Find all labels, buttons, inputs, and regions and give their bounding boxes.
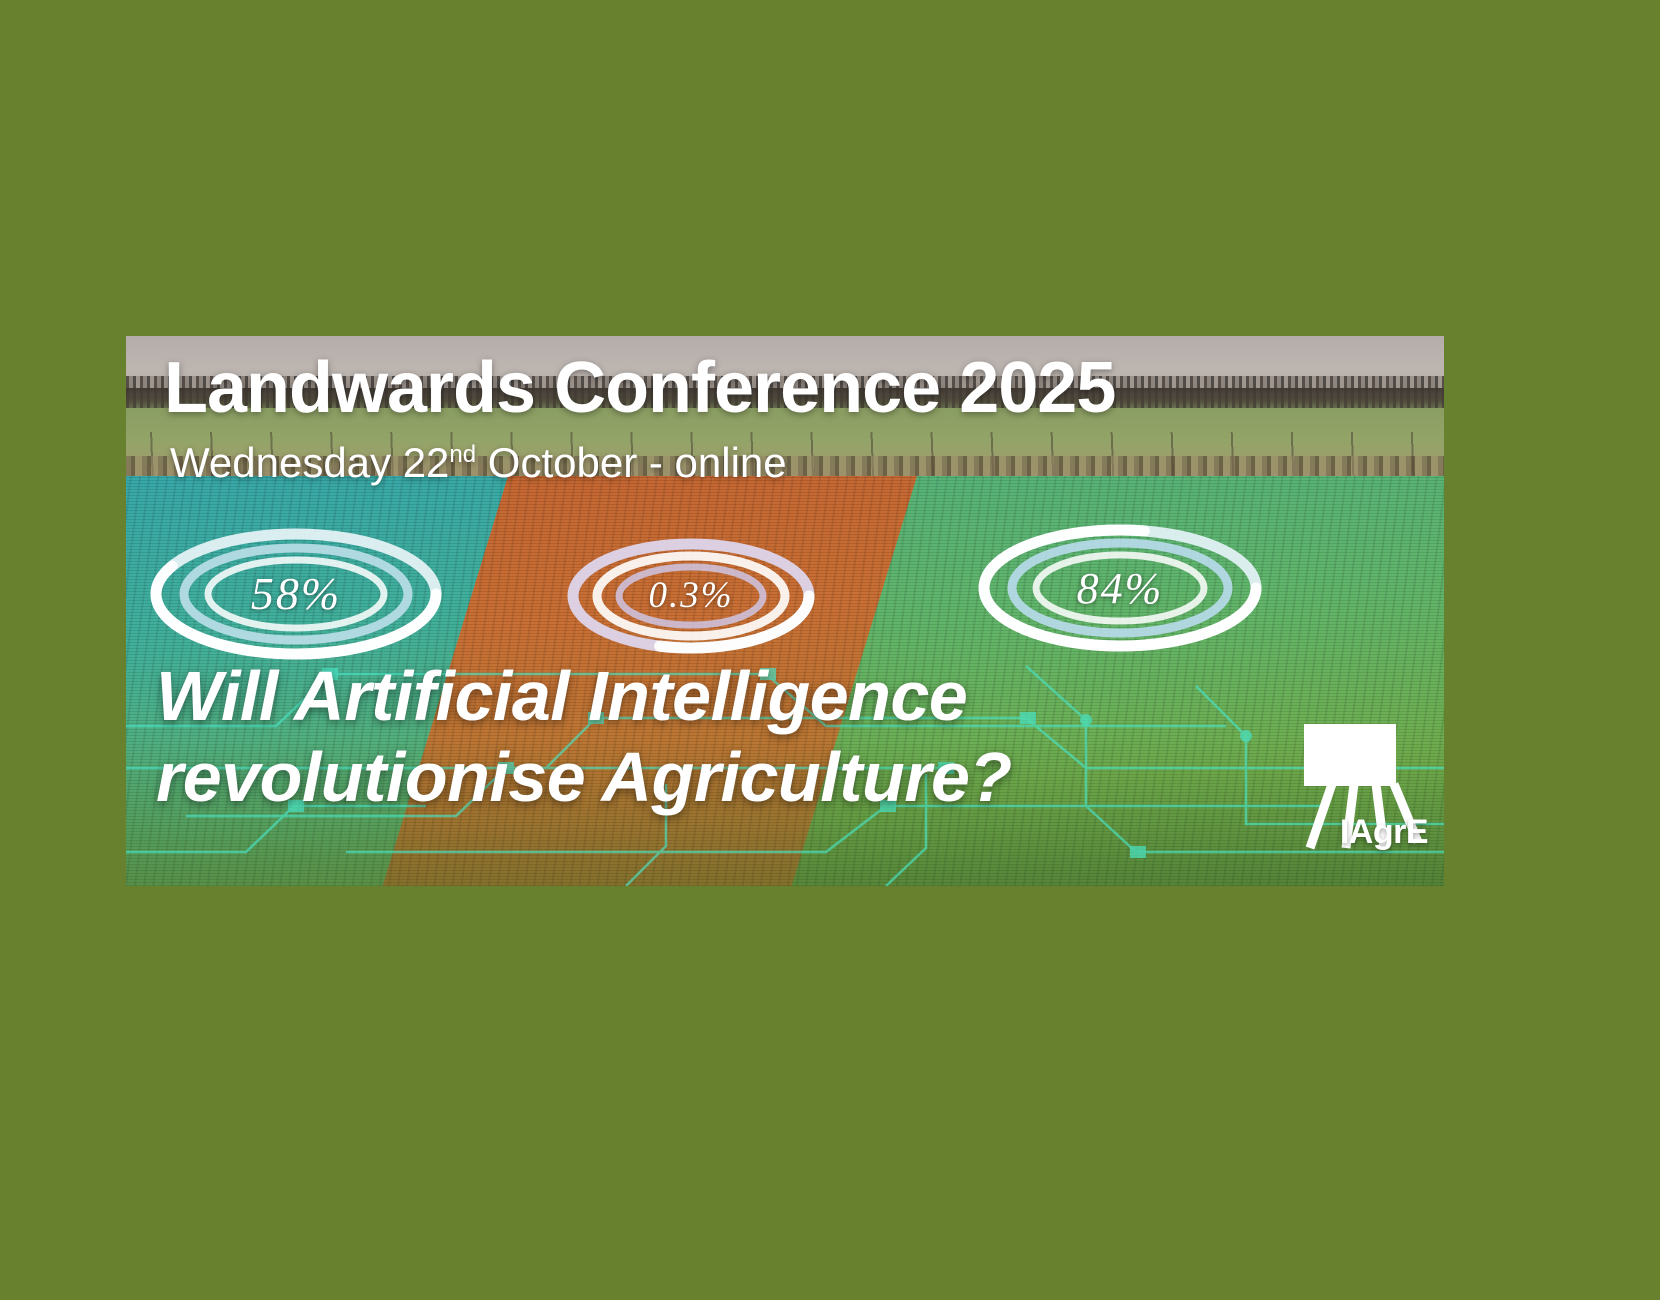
- banner-subtitle: Wednesday 22nd October - online: [170, 442, 787, 484]
- gauge-84-percent: 84%: [976, 522, 1264, 654]
- banner-title: Landwards Conference 2025: [164, 352, 1115, 424]
- banner-question: Will Artificial Intelligence revolutioni…: [156, 656, 1012, 818]
- question-line-1: Will Artificial Intelligence: [156, 656, 1012, 737]
- gauge-58-percent: 58%: [146, 526, 446, 661]
- gauge-0-3-percent: 0.3%: [566, 536, 816, 654]
- conference-banner[interactable]: 58% 0.3% 84% Landwards Conference 2025 W…: [126, 336, 1444, 886]
- subtitle-date-suffix: October - online: [476, 439, 787, 486]
- iagre-logo-text: IAgrE: [1340, 813, 1428, 852]
- subtitle-date-ordinal: nd: [449, 441, 476, 468]
- gauge-84-label: 84%: [1077, 563, 1164, 614]
- question-line-2: revolutionise Agriculture?: [156, 737, 1012, 818]
- gauge-58-label: 58%: [251, 567, 341, 620]
- gauge-0-3-label: 0.3%: [648, 574, 733, 617]
- subtitle-date-prefix: Wednesday 22: [170, 439, 449, 486]
